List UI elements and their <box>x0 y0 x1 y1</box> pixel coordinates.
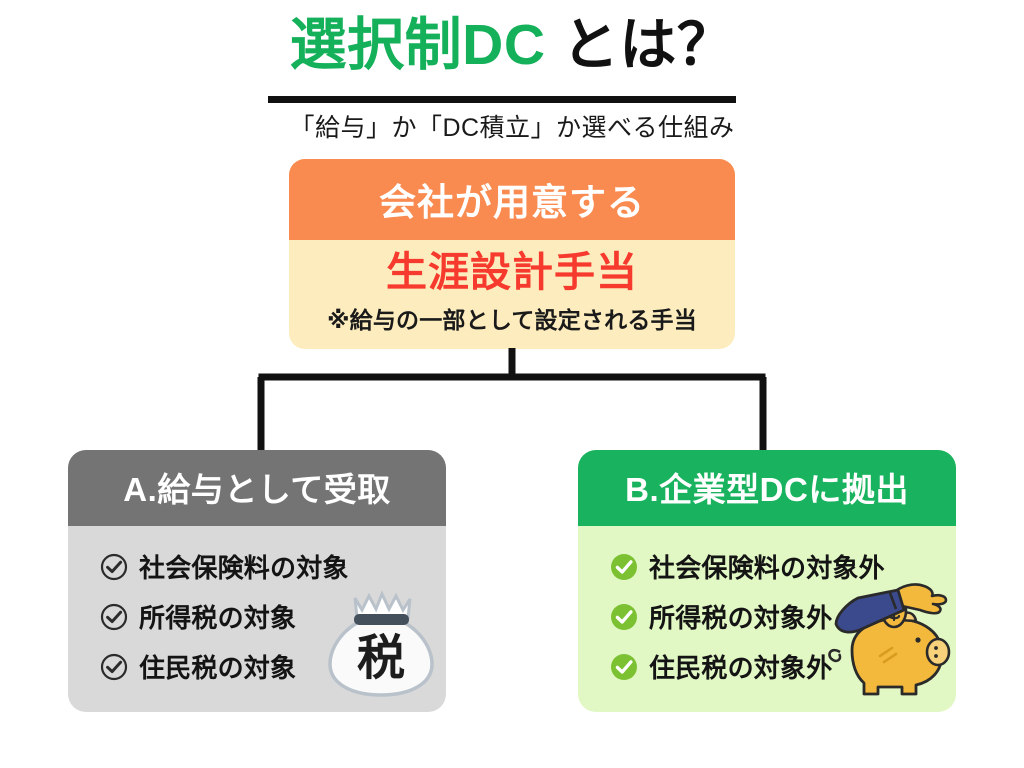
check-circle-outline-icon <box>100 653 128 681</box>
check-circle-filled-icon <box>610 553 638 581</box>
branch-b-body: 社会保険料の対象外 所得税の対象外 住民税の対象外 <box>578 526 956 704</box>
list-item: 社会保険料の対象外 <box>610 548 956 585</box>
list-item-label: 住民税の対象外 <box>649 648 832 685</box>
list-item-label: 所得税の対象外 <box>649 598 832 635</box>
check-circle-outline-icon <box>100 603 128 631</box>
branch-card-a: A.給与として受取 社会保険料の対象 所得税の対象 <box>68 450 446 712</box>
branch-a-body: 社会保険料の対象 所得税の対象 住民税の対象 <box>68 526 446 704</box>
list-item-label: 社会保険料の対象外 <box>649 548 885 585</box>
branch-card-b: B.企業型DCに拠出 社会保険料の対象外 所得税の対象外 <box>578 450 956 712</box>
list-item: 所得税の対象 <box>100 598 446 635</box>
list-item-label: 所得税の対象 <box>139 598 296 635</box>
infographic-canvas: 選択制DC とは？ 「給与」か「DC積立」か選べる仕組み 会社が用意する 生涯設… <box>0 0 1024 768</box>
list-item: 社会保険料の対象 <box>100 548 446 585</box>
check-circle-filled-icon <box>610 653 638 681</box>
list-item: 住民税の対象外 <box>610 648 956 685</box>
list-item-label: 住民税の対象 <box>139 648 296 685</box>
branch-b-header: B.企業型DCに拠出 <box>578 450 956 526</box>
check-circle-outline-icon <box>100 553 128 581</box>
list-item-label: 社会保険料の対象 <box>139 548 349 585</box>
check-circle-filled-icon <box>610 603 638 631</box>
list-item: 住民税の対象 <box>100 648 446 685</box>
list-item: 所得税の対象外 <box>610 598 956 635</box>
branch-a-header: A.給与として受取 <box>68 450 446 526</box>
